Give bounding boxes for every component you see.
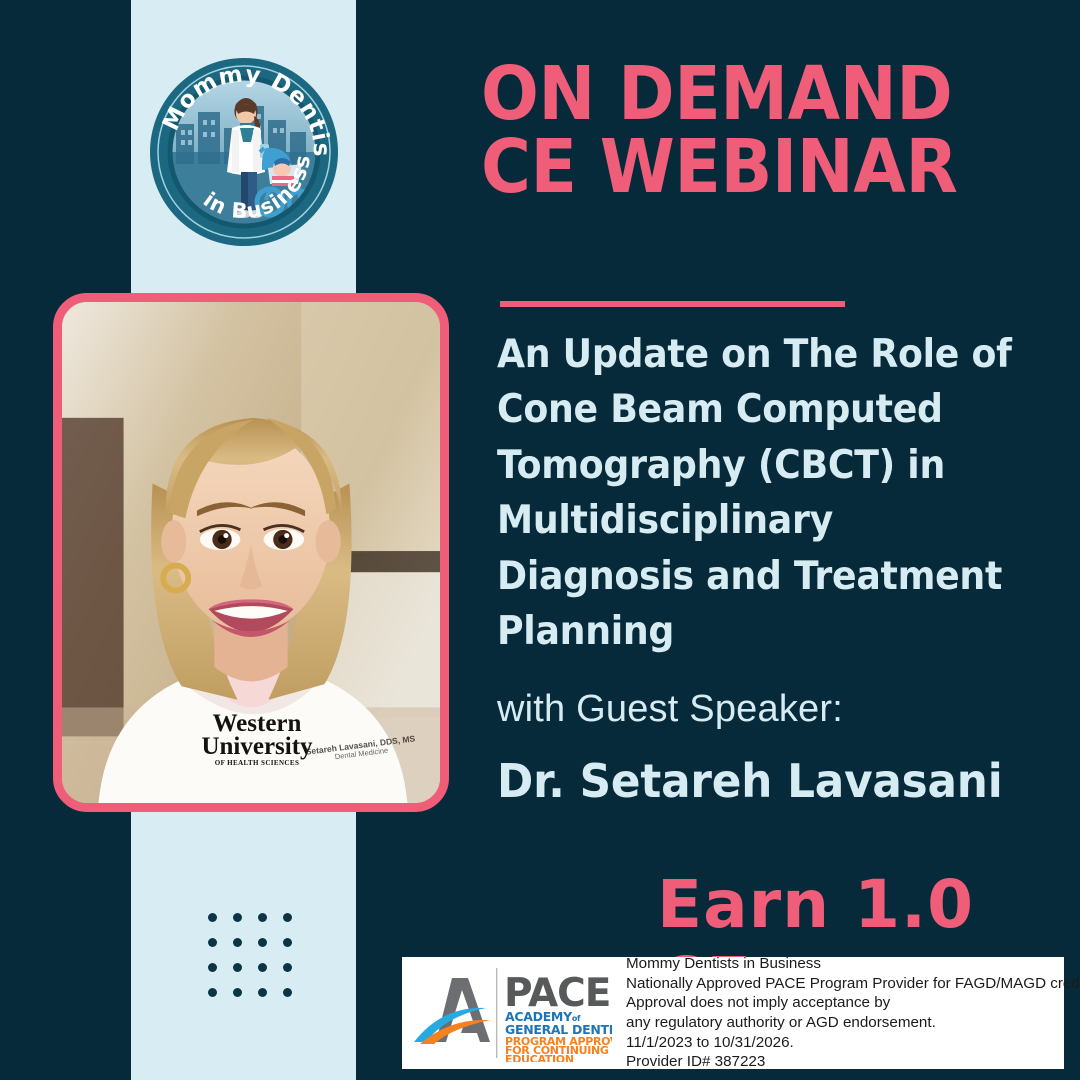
pace-logo-graphic: PACE ACADEMYof GENERAL DENTISTRY PROGRAM… xyxy=(412,964,612,1062)
accent-divider-rule xyxy=(500,301,845,307)
pace-approval-text: Mommy Dentists in Business Nationally Ap… xyxy=(612,954,1080,1072)
pace-logo: PACE ACADEMYof GENERAL DENTISTRY PROGRAM… xyxy=(412,964,612,1062)
pace-text-line: Approval does not imply acceptance by xyxy=(626,993,1080,1013)
speaker-portrait: Western University OF HEALTH SCIENCES Se… xyxy=(53,293,449,812)
headline-line-2: CE WEBINAR xyxy=(481,131,1015,204)
pace-text-line: Nationally Approved PACE Program Provide… xyxy=(626,974,1080,994)
decorative-dot-grid xyxy=(200,905,300,1005)
pace-accreditation-badge: PACE ACADEMYof GENERAL DENTISTRY PROGRAM… xyxy=(402,957,1064,1069)
pace-text-line: any regulatory authority or AGD endorsem… xyxy=(626,1013,1080,1033)
webinar-title: An Update on The Role of Cone Beam Compu… xyxy=(497,327,1018,659)
portrait-image xyxy=(62,302,440,803)
headline: ON DEMAND CE WEBINAR xyxy=(481,58,1015,203)
svg-text:EDUCATION: EDUCATION xyxy=(505,1053,574,1062)
mommy-dentists-in-business-logo: Mommy Dentists in Business® xyxy=(148,56,340,248)
pace-text-line: Provider ID# 387223 xyxy=(626,1052,1080,1072)
logo-graphic: Mommy Dentists in Business® xyxy=(148,56,340,248)
pace-text-line: Mommy Dentists in Business xyxy=(626,954,1080,974)
pace-text-line: 11/1/2023 to 10/31/2026. xyxy=(626,1033,1080,1053)
webinar-promo-poster: Mommy Dentists in Business® xyxy=(0,0,1080,1080)
guest-speaker-label: with Guest Speaker: xyxy=(497,688,843,731)
guest-speaker-name: Dr. Setareh Lavasani xyxy=(497,754,1003,808)
